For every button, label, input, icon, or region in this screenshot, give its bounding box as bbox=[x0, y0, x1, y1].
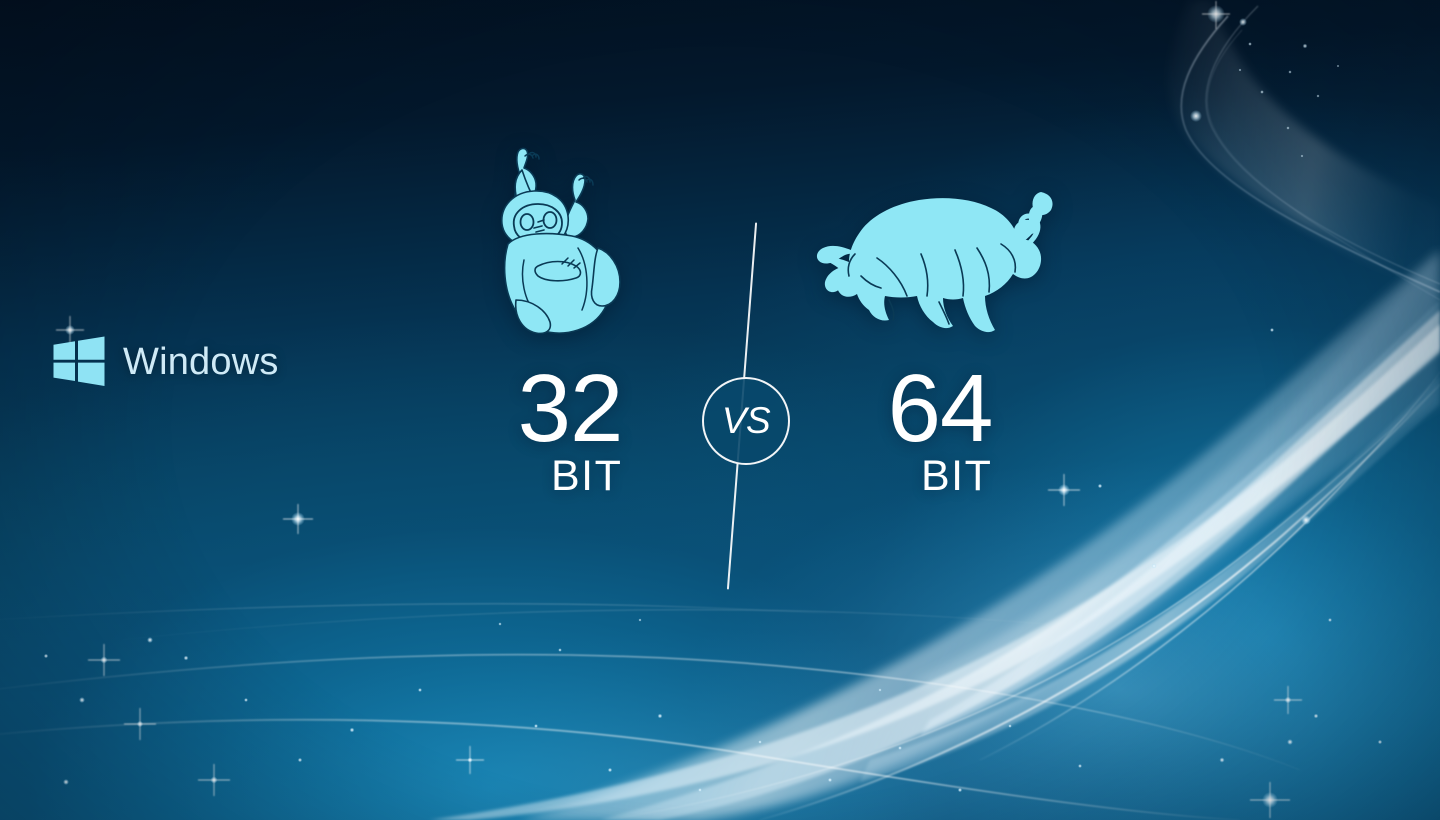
bit-value-left: 32 BIT bbox=[420, 365, 720, 498]
vs-label: VS bbox=[722, 402, 770, 439]
comparison-side-left: 32 BIT bbox=[420, 140, 720, 498]
sloth-icon bbox=[420, 140, 720, 355]
bull-icon bbox=[790, 140, 1090, 355]
comparison-block: 32 BIT bbox=[0, 0, 1440, 820]
comparison-side-right: 64 BIT bbox=[790, 140, 1090, 498]
bit-value-right: 64 BIT bbox=[790, 365, 1090, 498]
bit-number-right: 64 bbox=[888, 365, 993, 453]
vs-circle-badge-icon: VS bbox=[702, 377, 790, 465]
bit-number-left: 32 bbox=[518, 365, 623, 453]
wallpaper-stage: Windows bbox=[0, 0, 1440, 820]
